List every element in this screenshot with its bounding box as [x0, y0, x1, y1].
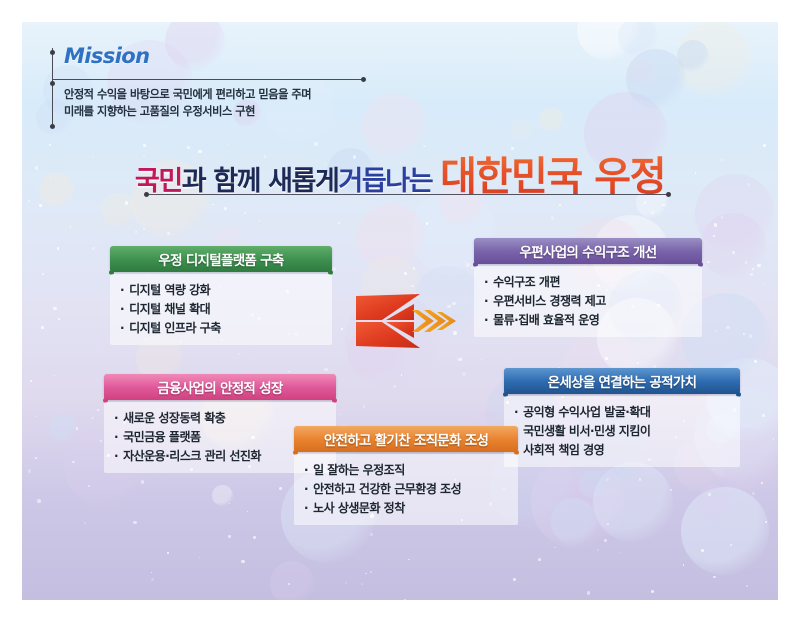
sparkle-dot [714, 223, 717, 226]
sparkle-dot [35, 416, 36, 417]
sparkle-dot [39, 204, 42, 207]
sparkle-dot [324, 368, 328, 372]
sparkle-dot [701, 549, 704, 552]
sparkle-dot [551, 216, 554, 219]
card-header-finance: 금융사업의 안정적 성장 [104, 374, 336, 400]
sparkle-dot [167, 232, 170, 235]
card-body-postal: 수익구조 개편 우편서비스 경쟁력 제고 물류·집배 효율적 운영 [474, 266, 702, 337]
list-item: 디지털 인프라 구축 [120, 319, 326, 338]
sparkle-dot [730, 544, 732, 546]
sparkle-dot [361, 583, 363, 585]
sparkle-dot [253, 536, 256, 539]
sparkle-dot [482, 394, 483, 395]
sparkle-dot [84, 522, 86, 524]
sparkle-dot [708, 493, 711, 496]
sparkle-dot [288, 583, 290, 585]
sparkle-dot [370, 571, 372, 573]
strategy-card-culture[interactable]: 안전하고 활기찬 조직문화 조성 일 잘하는 우정조직 안전하고 건강한 근무환… [294, 426, 518, 525]
sparkle-dot [345, 582, 347, 584]
sparkle-dot [224, 207, 226, 209]
sparkle-dot [713, 235, 715, 237]
card-header-postal: 우편사업의 수익구조 개선 [474, 238, 702, 264]
sparkle-dot [247, 511, 248, 512]
sparkle-dot [651, 211, 654, 214]
sparkle-dot [637, 362, 640, 365]
sparkle-dot [750, 273, 753, 276]
sparkle-dot [607, 523, 609, 525]
sparkle-dot [513, 578, 516, 581]
headline-rule-dot-right [666, 192, 671, 197]
list-item: 사회적 책임 경영 [514, 441, 734, 460]
sparkle-dot [481, 359, 482, 360]
sparkle-dot [393, 385, 396, 388]
mission-block: Mission 안정적 수익을 바탕으로 국민에게 편리하고 믿음을 주며 미래… [52, 44, 382, 126]
sparkle-dot [258, 220, 260, 222]
sparkle-dot [619, 552, 620, 553]
sparkle-dot [761, 482, 763, 484]
sparkle-dot [554, 547, 555, 548]
sparkle-dot [37, 499, 41, 503]
strategy-card-postal[interactable]: 우편사업의 수익구조 개선 수익구조 개편 우편서비스 경쟁력 제고 물류·집배… [474, 238, 702, 337]
list-item: 디지털 역량 강화 [120, 281, 326, 300]
sparkle-dot [76, 427, 78, 429]
mission-dot-top [50, 50, 55, 55]
card-header-culture: 안전하고 활기찬 조직문화 조성 [294, 426, 518, 452]
card-body-digital: 디지털 역량 강화 디지털 채널 확대 디지털 인프라 구축 [110, 274, 332, 345]
sparkle-dot [151, 578, 154, 581]
mission-horizontal-rule [53, 79, 363, 80]
strategy-card-public-value[interactable]: 온세상을 연결하는 공적가치 공익형 수익사업 발굴·확대 국민생활 비서·민생… [504, 368, 740, 467]
sparkle-dot [604, 539, 607, 542]
sparkle-dot [408, 559, 410, 561]
sparkle-dot [426, 222, 428, 224]
sparkle-dot [57, 247, 59, 249]
mission-statement: 안정적 수익을 바탕으로 국민에게 편리하고 믿음을 주며 미래를 지향하는 고… [64, 86, 311, 120]
mission-dot-middle [50, 81, 55, 86]
card-title-digital: 우정 디지털플랫폼 구축 [158, 249, 283, 269]
sparkle-dot [100, 440, 103, 443]
sparkle-dot [238, 353, 241, 356]
mission-title: Mission [64, 44, 149, 68]
sparkle-dot [732, 251, 735, 254]
sparkle-dot [167, 552, 169, 554]
list-item: 안전하고 건강한 근무환경 조성 [304, 480, 512, 499]
sparkle-dot [587, 591, 590, 594]
sparkle-dot [597, 549, 599, 551]
sparkle-dot [670, 489, 672, 491]
card-title-postal: 우편사업의 수익구조 개선 [520, 241, 657, 261]
sparkle-dot [97, 350, 98, 351]
sparkle-dot [288, 371, 290, 373]
sparkle-dot [212, 204, 213, 205]
sparkle-dot [30, 380, 31, 381]
sparkle-dot [58, 318, 60, 320]
sparkle-dot [279, 487, 282, 490]
sparkle-dot [762, 414, 765, 417]
sparkle-dot [683, 564, 684, 565]
sparkle-dot [721, 216, 724, 219]
sparkle-dot [36, 265, 37, 266]
sparkle-dot [745, 261, 747, 263]
sparkle-dot [404, 272, 407, 275]
card-body-culture: 일 잘하는 우정조직 안전하고 건강한 근무환경 조성 노사 상생문화 정착 [294, 454, 518, 525]
sparkle-dot [338, 222, 340, 224]
list-item: 일 잘하는 우정조직 [304, 461, 512, 480]
sparkle-dot [35, 457, 37, 459]
sparkle-dot [471, 267, 473, 269]
sparkle-dot [559, 204, 561, 206]
mission-vertical-rule [52, 48, 53, 126]
sparkle-dot [42, 273, 44, 275]
sparkle-dot [365, 573, 367, 575]
sparkle-dot [662, 204, 665, 207]
sparkle-dot [97, 409, 99, 411]
card-title-culture: 안전하고 활기찬 조직문화 조성 [324, 429, 488, 449]
sparkle-dot [466, 263, 470, 267]
list-item: 국민생활 비서·민생 지킴이 [514, 422, 734, 441]
sparkle-dot [413, 267, 416, 270]
sparkle-dot [133, 521, 136, 524]
card-header-digital: 우정 디지털플랫폼 구축 [110, 246, 332, 272]
card-header-public-value: 온세상을 연결하는 공적가치 [504, 368, 740, 394]
strategy-card-digital[interactable]: 우정 디지털플랫폼 구축 디지털 역량 강화 디지털 채널 확대 디지털 인프라… [110, 246, 332, 345]
sparkle-dot [28, 469, 31, 472]
headline-rule-dot-left [144, 192, 149, 197]
sparkle-dot [41, 326, 44, 329]
sparkle-dot [141, 480, 144, 483]
headline-underline [146, 194, 668, 195]
sparkle-dot [462, 372, 466, 376]
headline-part-gukmin: 국민 [135, 159, 182, 198]
sparkle-dot [752, 268, 754, 270]
sparkle-dot [606, 478, 609, 481]
sparkle-dot [713, 576, 715, 578]
sparkle-dot [70, 226, 71, 227]
sparkle-dot [88, 485, 90, 487]
sparkle-dot [404, 599, 406, 601]
sparkle-dot [228, 535, 230, 537]
sparkle-dot [401, 374, 402, 375]
sparkle-dot [464, 261, 466, 263]
sparkle-dot [363, 405, 366, 408]
sparkle-dot [749, 334, 753, 338]
sparkle-dot [332, 267, 336, 271]
list-item: 물류·집배 효율적 운영 [484, 311, 696, 330]
sparkle-dot [199, 557, 200, 558]
headline-part-together: 과 함께 새롭게 [182, 159, 339, 198]
sparkle-dot [244, 212, 246, 214]
list-item: 수익구조 개편 [484, 273, 696, 292]
card-title-public-value: 온세상을 연결하는 공적가치 [548, 371, 697, 391]
sparkle-dot [651, 590, 654, 593]
list-item: 우편서비스 경쟁력 제고 [484, 292, 696, 311]
sparkle-dot [143, 228, 145, 230]
sparkle-dot [92, 247, 95, 250]
sparkle-dot [764, 283, 765, 284]
sparkle-dot [605, 357, 607, 359]
sparkle-dot [757, 264, 760, 267]
sparkle-dot [340, 413, 341, 414]
sparkle-dot [54, 375, 55, 376]
sparkle-dot [743, 333, 745, 335]
sparkle-dot [229, 503, 230, 504]
sparkle-dot [72, 461, 74, 463]
list-item: 노사 상생문화 정착 [304, 499, 512, 518]
card-title-finance: 금융사업의 안정적 성장 [157, 377, 282, 397]
sparkle-dot [754, 360, 757, 363]
korea-post-swallow-logo [342, 280, 462, 360]
sparkle-dot [370, 533, 373, 536]
sparkle-dot [538, 558, 541, 561]
sparkle-dot [707, 261, 710, 264]
list-item: 공익형 수익사업 발굴·확대 [514, 403, 734, 422]
headline-part-renew: 거듭나는 [338, 159, 432, 198]
vision-poster: Mission 안정적 수익을 바탕으로 국민에게 편리하고 믿음을 주며 미래… [22, 22, 778, 600]
sparkle-dot [53, 307, 57, 311]
card-body-public-value: 공익형 수익사업 발굴·확대 국민생활 비서·민생 지킴이 사회적 책임 경영 [504, 396, 740, 467]
sparkle-dot [151, 572, 152, 573]
sparkle-dot [639, 478, 641, 480]
list-item: 디지털 채널 확대 [120, 300, 326, 319]
sparkle-dot [91, 417, 94, 420]
sparkle-dot [746, 585, 748, 587]
sparkle-dot [241, 560, 244, 563]
sparkle-dot [135, 231, 137, 233]
mission-rule-end-dot [361, 77, 366, 82]
sparkle-dot [752, 492, 755, 495]
sparkle-dot [765, 521, 767, 523]
sparkle-dot [773, 438, 775, 440]
sparkle-dot [712, 469, 713, 470]
sparkle-dot [726, 326, 729, 329]
sparkle-dot [715, 330, 716, 331]
